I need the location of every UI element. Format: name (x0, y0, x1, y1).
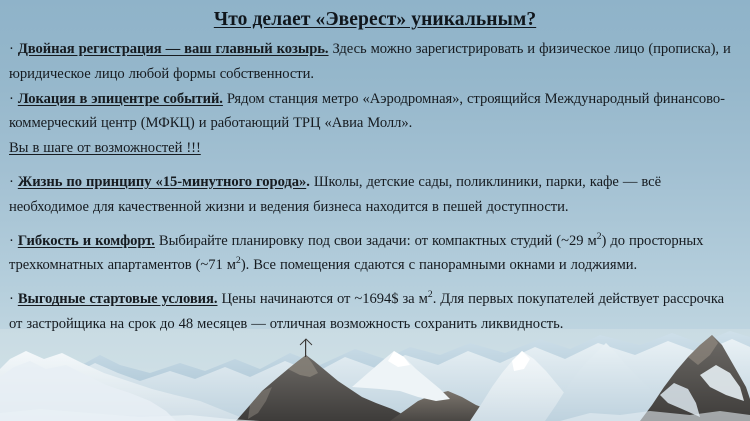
paragraph-dual-registration: · Двойная регистрация — ваш главный козы… (9, 37, 741, 87)
slide-content: Что делает «Эверест» уникальным? · Двойн… (0, 0, 750, 337)
slide-canvas: Что делает «Эверест» уникальным? · Двойн… (0, 0, 750, 421)
paragraph-flexibility-comfort: · Гибкость и комфорт. Выбирайте планиров… (9, 229, 741, 279)
paragraph-body-part-1: Выбирайте планировку под свои задачи: от… (155, 233, 597, 249)
paragraph-opportunity-note: Вы в шаге от возможностей !!! (9, 136, 741, 161)
paragraph-starting-conditions: · Выгодные стартовые условия. Цены начин… (9, 287, 741, 337)
bullet-marker: · (9, 174, 14, 190)
mountain-photo (0, 329, 750, 421)
paragraph-location: · Локация в эпицентре событий. Рядом ста… (9, 87, 741, 137)
paragraph-lead: Жизнь по принципу «15-минутного города» (18, 174, 306, 190)
bullet-marker: · (9, 291, 14, 307)
paragraph-body-part-1: Цены начинаются от ~1694$ за м (217, 291, 427, 307)
paragraph-fifteen-minute-city: · Жизнь по принципу «15-минутного города… (9, 170, 741, 220)
bullet-marker: · (9, 91, 14, 107)
page-title: Что делает «Эверест» уникальным? (0, 0, 750, 33)
bullet-marker: · (9, 41, 14, 57)
paragraph-lead: Гибкость и комфорт. (18, 233, 155, 249)
mountain-range-illustration (0, 329, 750, 421)
page-title-text: Что делает «Эверест» уникальным? (214, 9, 536, 30)
paragraph-body-part-3: ). Все помещения сдаются с панорамными о… (241, 257, 637, 273)
paragraph-lead: Выгодные стартовые условия. (18, 291, 218, 307)
body-text: · Двойная регистрация — ваш главный козы… (0, 33, 750, 337)
paragraph-lead: Двойная регистрация — ваш главный козырь… (18, 41, 329, 57)
paragraph-body: Вы в шаге от возможностей !!! (9, 140, 201, 156)
bullet-marker: · (9, 233, 14, 249)
paragraph-lead: Локация в эпицентре событий. (18, 91, 223, 107)
